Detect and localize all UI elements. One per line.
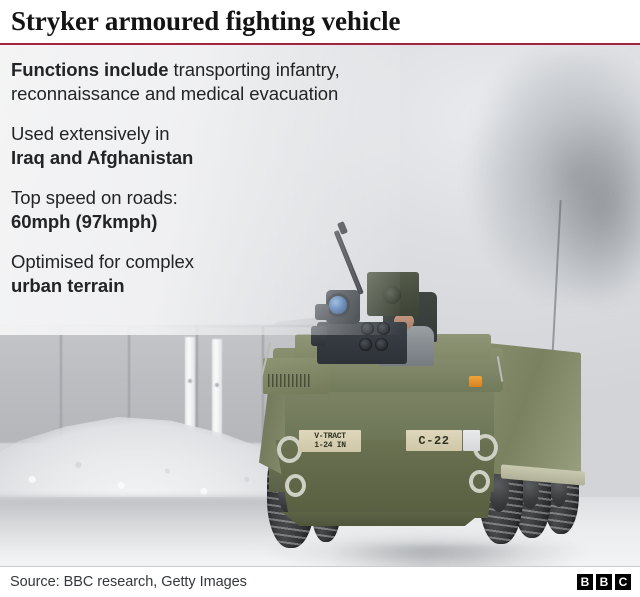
sensor-pod-upper (315, 304, 329, 320)
fact-speed-line-2: 60mph (97kmph) (11, 210, 431, 234)
fact-list: Functions include transporting infantry,… (11, 58, 431, 298)
footer: Source: BBC research, Getty Images B B C (0, 566, 640, 597)
fact-speed-value: 60mph (97kmph) (11, 211, 157, 232)
smoke-grenade-tube-2 (377, 322, 390, 335)
fact-speed-line-1: Top speed on roads: (11, 186, 431, 210)
unit-marking-line-2: 1-24 IN (314, 442, 346, 450)
smoke-grenade-tube-4 (375, 338, 388, 351)
roadside-post-1 (185, 337, 195, 433)
fact-terrain-line-1: Optimised for complex (11, 250, 431, 274)
smoke-grenade-tube-3 (359, 338, 372, 351)
infographic-card: Stryker armoured fighting vehicle (0, 0, 640, 597)
bbc-logo-letter-2: B (596, 574, 612, 590)
rws-optic-lens (329, 296, 347, 314)
fact-deployment-line-1: Used extensively in (11, 122, 431, 146)
callsign-plate: C-22 (406, 430, 462, 451)
vehicle-shadow (263, 530, 593, 566)
fact-terrain: Optimised for complex urban terrain (11, 250, 431, 298)
fact-functions: Functions include transporting infantry,… (11, 58, 431, 106)
fact-deployment: Used extensively in Iraq and Afghanistan (11, 122, 431, 170)
blank-plate (463, 430, 480, 451)
bbc-logo: B B C (577, 574, 631, 590)
bbc-logo-letter-3: C (615, 574, 631, 590)
glacis-lower-lip (273, 512, 491, 526)
fact-functions-line-2: reconnaissance and medical evacuation (11, 82, 431, 106)
amber-marker-light (469, 376, 482, 387)
fact-functions-line-1: Functions include transporting infantry, (11, 58, 431, 82)
fact-functions-label: Functions include (11, 59, 168, 80)
page-title: Stryker armoured fighting vehicle (11, 6, 400, 37)
sensor-pod-left (311, 326, 327, 346)
ground-shading (0, 497, 290, 557)
fact-functions-text: transporting infantry, (168, 59, 339, 80)
tow-shackle-lower-right (469, 470, 490, 493)
fact-terrain-value: urban terrain (11, 275, 124, 296)
stowage-grille (268, 374, 310, 387)
unit-marking-line-1: V-TRACT (314, 433, 346, 441)
fact-terrain-line-2: urban terrain (11, 274, 431, 298)
fact-speed: Top speed on roads: 60mph (97kmph) (11, 186, 431, 234)
header: Stryker armoured fighting vehicle (0, 0, 640, 43)
unit-marking-plate: V-TRACT 1-24 IN (299, 430, 361, 452)
bbc-logo-letter-1: B (577, 574, 593, 590)
fact-deployment-line-2: Iraq and Afghanistan (11, 146, 431, 170)
smoke-grenade-tube-1 (361, 322, 374, 335)
fact-deployment-value: Iraq and Afghanistan (11, 147, 193, 168)
roadside-post-2 (212, 339, 222, 439)
tow-shackle-lower-left (285, 474, 306, 497)
source-credit: Source: BBC research, Getty Images (10, 574, 247, 590)
